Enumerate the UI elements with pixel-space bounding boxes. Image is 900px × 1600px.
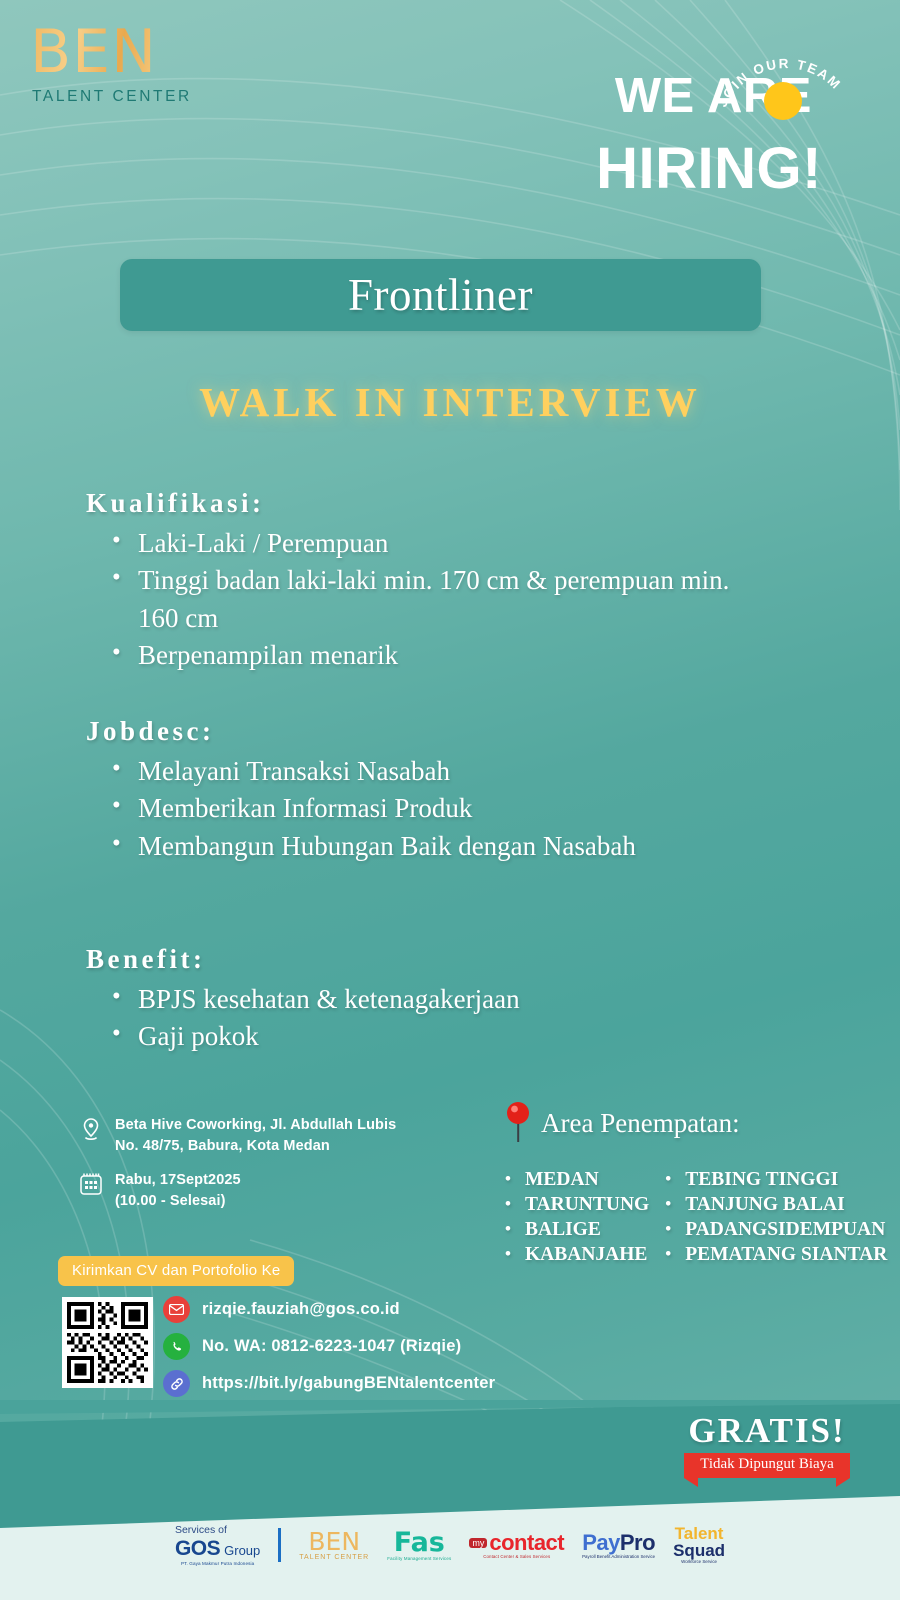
role-title-bar: Frontliner <box>120 259 761 331</box>
join-our-team-curved-text: JOIN OUR TEAM <box>716 22 856 152</box>
whatsapp-text: No. WA: 0812-6223-1047 (Rizqie) <box>202 1337 461 1356</box>
list-item: Melayani Transaksi Nasabah <box>112 753 636 790</box>
services-of-label: Services of <box>175 1524 227 1536</box>
section-heading: Benefit: <box>86 944 520 975</box>
pushpin-icon <box>505 1100 531 1146</box>
jobdesc-list: Melayani Transaksi Nasabah Memberikan In… <box>86 753 636 865</box>
date-line-2: (10.00 - Selesai) <box>115 1193 226 1209</box>
contact-list: rizqie.fauziah@gos.co.id No. WA: 0812-62… <box>163 1296 495 1407</box>
venue-details: Beta Hive Coworking, Jl. Abdullah Lubis … <box>78 1115 478 1225</box>
partner-gos: Services of GOS Group PT. Gaya Makmur Pu… <box>175 1524 260 1566</box>
partner-logos: Services of GOS Group PT. Gaya Makmur Pu… <box>0 1490 900 1600</box>
ben-partner-name: BEN <box>308 1529 360 1554</box>
list-item: Memberikan Informasi Produk <box>112 790 636 827</box>
envelope-icon <box>163 1296 190 1323</box>
ben-logo: BEN <box>30 22 157 82</box>
squad-word: Squad <box>673 1543 725 1559</box>
partner-paypro: PayPro Payroll Benefit Administration Se… <box>582 1532 655 1559</box>
gos-name: GOS <box>175 1537 220 1561</box>
svg-text:JOIN OUR TEAM: JOIN OUR TEAM <box>715 56 845 109</box>
talentsquad-sub: Workforce Service <box>681 1559 717 1564</box>
recruitment-poster: BEN TALENT CENTER WE ARE HIRING! JOIN OU… <box>0 0 900 1600</box>
area-column-left: MEDAN TARUNTUNG BALIGE KABANJAHE <box>505 1168 649 1268</box>
area-title: Area Penempatan: <box>541 1108 740 1139</box>
map-pin-icon <box>78 1115 104 1143</box>
ben-logo-subtitle: TALENT CENTER <box>32 88 192 106</box>
partner-ben: BEN TALENT CENTER <box>299 1529 369 1561</box>
section-jobdesc: Jobdesc: Melayani Transaksi Nasabah Memb… <box>86 716 636 865</box>
list-item: TARUNTUNG <box>505 1193 649 1218</box>
area-title-row: Area Penempatan: <box>505 1100 885 1146</box>
mycontact-logo: my contact <box>469 1532 564 1554</box>
my-badge: my <box>469 1538 487 1548</box>
section-benefit: Benefit: BPJS kesehatan & ketenagakerjaa… <box>86 944 520 1056</box>
gratis-title: GRATIS! <box>662 1411 872 1451</box>
list-item: TANJUNG BALAI <box>665 1193 887 1218</box>
contact-email-row[interactable]: rizqie.fauziah@gos.co.id <box>163 1296 495 1323</box>
date-line-1: Rabu, 17Sept2025 <box>115 1172 241 1188</box>
contact-whatsapp-row[interactable]: No. WA: 0812-6223-1047 (Rizqie) <box>163 1333 495 1360</box>
paypro-pay: Pay <box>582 1530 620 1555</box>
email-text: rizqie.fauziah@gos.co.id <box>202 1300 400 1319</box>
whatsapp-icon <box>163 1333 190 1360</box>
paypro-pro: Pro <box>620 1530 655 1555</box>
free-banner: GRATIS! Tidak Dipungut Biaya <box>662 1411 872 1478</box>
link-icon <box>163 1370 190 1397</box>
gratis-ribbon: Tidak Dipungut Biaya <box>684 1453 850 1478</box>
qr-code[interactable] <box>62 1297 153 1388</box>
list-item: Membangun Hubungan Baik dengan Nasabah <box>112 828 636 865</box>
gos-logo: GOS Group <box>175 1537 260 1561</box>
partner-divider <box>278 1528 281 1562</box>
walk-in-interview-title: WALK IN INTERVIEW <box>0 378 900 426</box>
list-item: Tinggi badan laki-laki min. 170 cm & per… <box>112 562 732 637</box>
list-item: MEDAN <box>505 1168 649 1193</box>
partner-fas: Fas Facility Management Services <box>387 1529 451 1561</box>
list-item: PADANGSIDEMPUAN <box>665 1218 887 1243</box>
area-columns: MEDAN TARUNTUNG BALIGE KABANJAHE TEBING … <box>505 1168 885 1268</box>
address-line-1: Beta Hive Coworking, Jl. Abdullah Lubis <box>115 1117 396 1133</box>
gos-group: Group <box>224 1543 260 1558</box>
list-item: Gaji pokok <box>112 1018 520 1055</box>
list-item: KABANJAHE <box>505 1243 649 1268</box>
kualifikasi-list: Laki-Laki / Perempuan Tinggi badan laki-… <box>86 525 732 674</box>
list-item: TEBING TINGGI <box>665 1168 887 1193</box>
list-item: Berpenampilan menarik <box>112 637 732 674</box>
mycontact-sub: Contact Center & Sales Services <box>483 1554 550 1559</box>
section-kualifikasi: Kualifikasi: Laki-Laki / Perempuan Tingg… <box>86 488 732 674</box>
list-item: BPJS kesehatan & ketenagakerjaan <box>112 981 520 1018</box>
venue-address: Beta Hive Coworking, Jl. Abdullah Lubis … <box>115 1115 396 1157</box>
fas-sub: Facility Management Services <box>387 1556 451 1561</box>
partner-mycontact: my contact Contact Center & Sales Servic… <box>469 1532 564 1559</box>
section-heading: Kualifikasi: <box>86 488 732 519</box>
partner-talentsquad: Talent Squad Workforce Service <box>673 1526 725 1564</box>
cv-submission-badge: Kirimkan CV dan Portofolio Ke <box>58 1256 294 1286</box>
list-item: Laki-Laki / Perempuan <box>112 525 732 562</box>
benefit-list: BPJS kesehatan & ketenagakerjaan Gaji po… <box>86 981 520 1056</box>
role-title: Frontliner <box>348 269 533 321</box>
contact-name: contact <box>489 1532 564 1554</box>
link-text: https://bit.ly/gabungBENtalentcenter <box>202 1374 495 1393</box>
address-line-2: No. 48/75, Babura, Kota Medan <box>115 1138 330 1154</box>
paypro-logo: PayPro <box>582 1532 655 1554</box>
venue-address-row: Beta Hive Coworking, Jl. Abdullah Lubis … <box>78 1115 478 1157</box>
paypro-sub: Payroll Benefit Administration Service <box>582 1554 655 1559</box>
list-item: BALIGE <box>505 1218 649 1243</box>
contact-link-row[interactable]: https://bit.ly/gabungBENtalentcenter <box>163 1370 495 1397</box>
gos-tagline: PT. Gaya Makmur Putra Indonesia <box>181 1561 254 1566</box>
section-heading: Jobdesc: <box>86 716 636 747</box>
area-penempatan: Area Penempatan: MEDAN TARUNTUNG BALIGE … <box>505 1100 885 1268</box>
venue-date: Rabu, 17Sept2025 (10.00 - Selesai) <box>115 1170 241 1212</box>
area-column-right: TEBING TINGGI TANJUNG BALAI PADANGSIDEMP… <box>665 1168 887 1268</box>
ben-partner-sub: TALENT CENTER <box>299 1554 369 1561</box>
list-item: PEMATANG SIANTAR <box>665 1243 887 1268</box>
venue-date-row: Rabu, 17Sept2025 (10.00 - Selesai) <box>78 1170 478 1212</box>
fas-name: Fas <box>394 1529 445 1556</box>
calendar-icon <box>78 1170 104 1198</box>
